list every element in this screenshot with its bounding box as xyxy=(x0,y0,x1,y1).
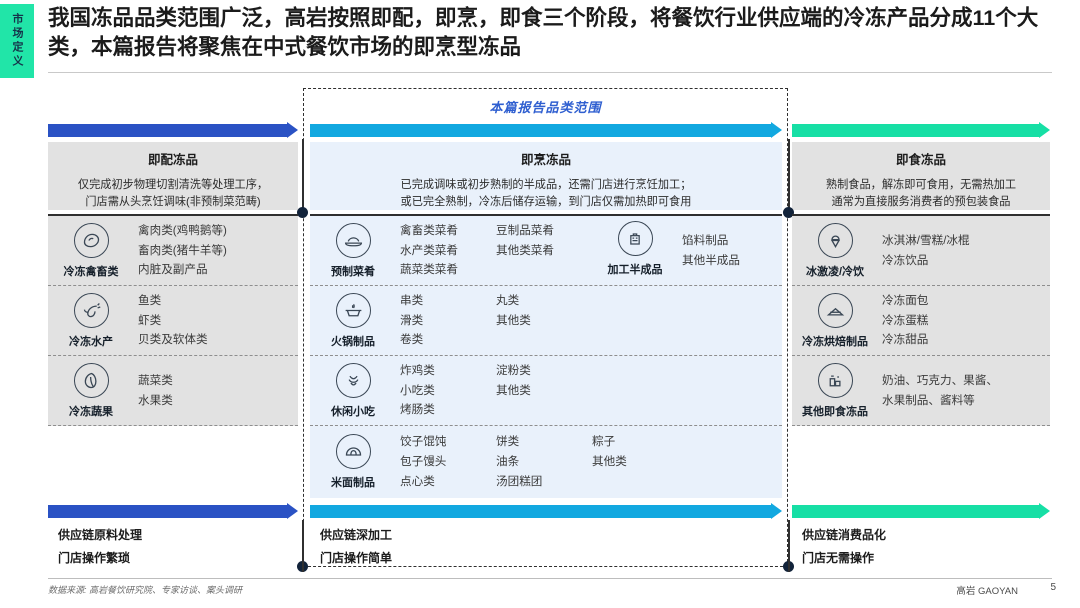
list-item: 饺子馄饨 xyxy=(400,432,496,452)
category-icon-block: 火锅制品 xyxy=(310,293,396,349)
dumpling-icon xyxy=(336,434,371,469)
list-item: 其他类 xyxy=(496,381,592,401)
category-name: 休闲小吃 xyxy=(331,403,375,419)
vegetable-icon xyxy=(74,363,109,398)
category-row[interactable]: 冰激凌/冷饮 冰淇淋/雪糕/冰棍 冷冻饮品 xyxy=(792,216,1050,286)
category-icon-block: 其他即食冻品 xyxy=(792,363,878,419)
category-name: 冷冻烘焙制品 xyxy=(802,333,868,349)
category-icon-block: 冷冻蔬果 xyxy=(48,363,134,419)
arrow-bottom-ready-to-cook xyxy=(48,505,298,518)
item-column: 淀粉类 其他类 xyxy=(496,361,592,421)
slide-root: 市场定义 我国冻品品类范围广泛，高岩按照即配，即烹，即食三个阶段，将餐饮行业供应… xyxy=(0,0,1080,608)
report-scope-label: 本篇报告品类范围 xyxy=(303,97,788,116)
item-column: 冷冻面包 冷冻蛋糕 冷冻甜品 xyxy=(882,291,1000,351)
list-item: 饼类 xyxy=(496,432,592,452)
category-row[interactable]: 冷冻禽畜类 禽肉类(鸡鸭鹅等) 畜肉类(猪牛羊等) 内脏及副产品 xyxy=(48,216,298,286)
category-icon-block: 冷冻水产 xyxy=(48,293,134,349)
category-row[interactable]: 米面制品 饺子馄饨 包子馒头 点心类 饼类 油条 汤团糕团 粽子 其他类 xyxy=(310,426,782,498)
stage-header-ready-to-heat: 即烹冻品 已完成调味或初步熟制的半成品，还需门店进行烹饪加工； 或已完全熟制，冷… xyxy=(310,142,782,210)
category-items: 禽畜类菜肴 水产类菜肴 蔬菜类菜肴 豆制品菜肴 其他类菜肴 加工半成品 xyxy=(396,221,782,281)
stage-title: 即配冻品 xyxy=(48,149,298,168)
category-items: 禽肉类(鸡鸭鹅等) 畜肉类(猪牛羊等) 内脏及副产品 xyxy=(134,221,298,281)
list-item: 丸类 xyxy=(496,291,592,311)
category-items: 冷冻面包 冷冻蛋糕 冷冻甜品 xyxy=(878,291,1050,351)
stage-header-ready-to-cook: 即配冻品 仅完成初步物理切割清洗等处理工序， 门店需从头烹饪调味(非预制菜范畴) xyxy=(48,142,298,210)
snack-icon xyxy=(336,363,371,398)
category-icon-block: 预制菜肴 xyxy=(310,223,396,279)
category-icon-block: 冷冻禽畜类 xyxy=(48,223,134,279)
section-tag: 市场定义 xyxy=(0,4,34,78)
category-name: 冷冻蔬果 xyxy=(69,403,113,419)
arrow-head xyxy=(771,503,782,519)
category-icon-block: 冰激凌/冷饮 xyxy=(792,223,878,279)
stage-arrow-row xyxy=(0,124,1080,138)
category-row[interactable]: 休闲小吃 炸鸡类 小吃类 烤肠类 淀粉类 其他类 xyxy=(310,356,782,426)
category-items: 蔬菜类 水果类 xyxy=(134,371,298,411)
list-item: 烤肠类 xyxy=(400,400,496,420)
list-item: 内脏及副产品 xyxy=(138,260,256,280)
list-item: 油条 xyxy=(496,452,592,472)
column-divider-right xyxy=(788,139,790,213)
item-column: 饼类 油条 汤团糕团 xyxy=(496,432,592,492)
footer-brand: 高岩 GAOYAN xyxy=(956,583,1018,597)
column-divider-right-bottom xyxy=(788,520,790,572)
summary-line: 门店操作繁琐 xyxy=(58,547,298,570)
meat-icon xyxy=(74,223,109,258)
list-item: 鱼类 xyxy=(138,291,256,311)
arrow-bar xyxy=(48,505,288,518)
item-column: 冰淇淋/雪糕/冰棍 冷冻饮品 xyxy=(882,231,1000,271)
stage-title: 即食冻品 xyxy=(792,149,1050,168)
category-name: 火锅制品 xyxy=(331,333,375,349)
stage-desc: 熟制食品，解冻即可食用，无需热加工 通常为直接服务消费者的预包装食品 xyxy=(792,177,1050,211)
summary-line: 门店操作简单 xyxy=(320,547,782,570)
category-items: 串类 滑类 卷类 丸类 其他类 xyxy=(396,291,782,351)
factory-icon xyxy=(618,221,653,256)
cake-icon xyxy=(818,293,853,328)
list-item: 畜肉类(猪牛羊等) xyxy=(138,241,256,261)
category-row[interactable]: 其他即食冻品 奶油、巧克力、果酱、水果制品、酱料等 xyxy=(792,356,1050,426)
subcategory-items: 馅料制品 其他半成品 xyxy=(678,231,778,271)
item-column: 豆制品菜肴 其他类菜肴 xyxy=(496,221,592,281)
column-divider-left xyxy=(302,139,304,213)
item-column: 禽畜类菜肴 水产类菜肴 蔬菜类菜肴 xyxy=(400,221,496,281)
list-item: 粽子 xyxy=(592,432,688,452)
arrow-head xyxy=(1039,503,1050,519)
item-column: 蔬菜类 水果类 xyxy=(138,371,256,411)
list-item: 冰淇淋/雪糕/冰棍 xyxy=(882,231,1000,251)
category-row[interactable]: 预制菜肴 禽畜类菜肴 水产类菜肴 蔬菜类菜肴 豆制品菜肴 其他类菜肴 xyxy=(310,216,782,286)
list-item: 小吃类 xyxy=(400,381,496,401)
column-divider-left-bottom xyxy=(302,520,304,572)
list-item: 贝类及软体类 xyxy=(138,330,256,350)
list-item: 蔬菜类 xyxy=(138,371,256,391)
category-name: 其他即食冻品 xyxy=(802,403,868,419)
item-column: 串类 滑类 卷类 xyxy=(400,291,496,351)
category-row[interactable]: 火锅制品 串类 滑类 卷类 丸类 其他类 xyxy=(310,286,782,356)
arrow-bar xyxy=(310,505,772,518)
category-items: 炸鸡类 小吃类 烤肠类 淀粉类 其他类 xyxy=(396,361,782,421)
category-row[interactable]: 冷冻蔬果 蔬菜类 水果类 xyxy=(48,356,298,426)
arrow-head xyxy=(771,122,782,138)
list-item: 其他类 xyxy=(496,311,592,331)
arrow-bar xyxy=(48,124,288,137)
summary-ready-to-cook: 供应链原料处理 门店操作繁琐 xyxy=(48,524,298,568)
summary-line: 门店无需操作 xyxy=(802,547,1050,570)
item-column: 饺子馄饨 包子馒头 点心类 xyxy=(400,432,496,492)
shrimp-icon xyxy=(74,293,109,328)
item-column: 粽子 其他类 xyxy=(592,432,688,492)
list-item: 其他类 xyxy=(592,452,688,472)
arrow-ready-to-eat xyxy=(792,124,1050,137)
list-item: 禽肉类(鸡鸭鹅等) xyxy=(138,221,256,241)
category-icon-block: 冷冻烘焙制品 xyxy=(792,293,878,349)
list-item: 水果类 xyxy=(138,391,256,411)
list-item: 滑类 xyxy=(400,311,496,331)
item-column: 丸类 其他类 xyxy=(496,291,592,351)
arrow-bottom-ready-to-eat xyxy=(792,505,1050,518)
connector-dot-left xyxy=(297,207,308,218)
category-name: 冷冻禽畜类 xyxy=(64,263,119,279)
category-icon-block: 休闲小吃 xyxy=(310,363,396,419)
category-row[interactable]: 冷冻烘焙制品 冷冻面包 冷冻蛋糕 冷冻甜品 xyxy=(792,286,1050,356)
list-item: 豆制品菜肴 xyxy=(496,221,592,241)
list-item: 炸鸡类 xyxy=(400,361,496,381)
subcategory-icon-block: 加工半成品 xyxy=(592,221,678,280)
list-item: 汤团糕团 xyxy=(496,472,592,492)
icecream-icon xyxy=(818,223,853,258)
list-item: 奶油、巧克力、果酱、水果制品、酱料等 xyxy=(882,371,1002,411)
item-column: 馅料制品 其他半成品 xyxy=(682,231,778,271)
list-item: 冷冻饮品 xyxy=(882,251,1000,271)
ingredients-icon xyxy=(818,363,853,398)
item-column: 炸鸡类 小吃类 烤肠类 xyxy=(400,361,496,421)
list-item: 其他类菜肴 xyxy=(496,241,592,261)
list-item: 冷冻甜品 xyxy=(882,330,1000,350)
list-item: 禽畜类菜肴 xyxy=(400,221,496,241)
item-column: 奶油、巧克力、果酱、水果制品、酱料等 xyxy=(882,371,1002,411)
hotpot-icon xyxy=(336,293,371,328)
list-item: 虾类 xyxy=(138,311,256,331)
list-item: 水产类菜肴 xyxy=(400,241,496,261)
arrow-bar xyxy=(310,124,772,137)
page-title: 我国冻品品类范围广泛，高岩按照即配，即烹，即食三个阶段，将餐饮行业供应端的冷冻产… xyxy=(48,4,1058,62)
list-item: 冷冻面包 xyxy=(882,291,1000,311)
footer-source: 数据来源: 高岩餐饮研究院、专家访谈、案头调研 xyxy=(48,583,242,596)
summary-line: 供应链消费品化 xyxy=(802,524,1050,547)
category-name: 米面制品 xyxy=(331,474,375,490)
arrow-head xyxy=(287,503,298,519)
category-items: 饺子馄饨 包子馒头 点心类 饼类 油条 汤团糕团 粽子 其他类 xyxy=(396,432,782,492)
list-item: 蔬菜类菜肴 xyxy=(400,260,496,280)
stage-title: 即烹冻品 xyxy=(310,149,782,168)
list-item: 冷冻蛋糕 xyxy=(882,311,1000,331)
footer-divider xyxy=(48,578,1052,579)
arrow-head xyxy=(287,122,298,138)
summary-line: 供应链原料处理 xyxy=(58,524,298,547)
subcategory-block[interactable]: 加工半成品 馅料制品 其他半成品 xyxy=(592,221,778,281)
title-divider xyxy=(48,72,1052,73)
list-item: 其他半成品 xyxy=(682,251,778,271)
stage-header-ready-to-eat: 即食冻品 熟制食品，解冻即可食用，无需热加工 通常为直接服务消费者的预包装食品 xyxy=(792,142,1050,210)
list-item: 卷类 xyxy=(400,330,496,350)
list-item: 馅料制品 xyxy=(682,231,778,251)
stage-desc: 已完成调味或初步熟制的半成品，还需门店进行烹饪加工； 或已完全熟制，冷冻后储存运… xyxy=(310,177,782,211)
list-item: 包子馒头 xyxy=(400,452,496,472)
arrow-ready-to-cook xyxy=(48,124,298,137)
category-icon-block: 米面制品 xyxy=(310,434,396,490)
subcategory-name: 加工半成品 xyxy=(608,261,663,280)
summary-ready-to-eat: 供应链消费品化 门店无需操作 xyxy=(792,524,1050,568)
category-name: 冰激凌/冷饮 xyxy=(806,263,864,279)
summary-ready-to-heat: 供应链深加工 门店操作简单 xyxy=(310,524,782,568)
item-column: 禽肉类(鸡鸭鹅等) 畜肉类(猪牛羊等) 内脏及副产品 xyxy=(138,221,256,281)
category-name: 冷冻水产 xyxy=(69,333,113,349)
summary-line: 供应链深加工 xyxy=(320,524,782,547)
stage-desc: 仅完成初步物理切割清洗等处理工序， 门店需从头烹饪调味(非预制菜范畴) xyxy=(48,177,298,211)
arrow-head xyxy=(1039,122,1050,138)
category-items: 奶油、巧克力、果酱、水果制品、酱料等 xyxy=(878,371,1050,411)
arrow-bottom-ready-to-heat xyxy=(310,505,782,518)
arrow-bar xyxy=(792,124,1040,137)
category-name: 预制菜肴 xyxy=(331,263,375,279)
arrow-ready-to-heat xyxy=(310,124,782,137)
category-items: 鱼类 虾类 贝类及软体类 xyxy=(134,291,298,351)
list-item: 点心类 xyxy=(400,472,496,492)
category-row[interactable]: 冷冻水产 鱼类 虾类 贝类及软体类 xyxy=(48,286,298,356)
item-column: 鱼类 虾类 贝类及软体类 xyxy=(138,291,256,351)
list-item: 淀粉类 xyxy=(496,361,592,381)
section-tag-label: 市场定义 xyxy=(11,13,23,69)
arrow-bar xyxy=(792,505,1040,518)
stage-arrow-row-bottom xyxy=(0,505,1080,519)
footer-page-number: 5 xyxy=(1050,582,1056,593)
dish-icon xyxy=(336,223,371,258)
category-items: 冰淇淋/雪糕/冰棍 冷冻饮品 xyxy=(878,231,1050,271)
list-item: 串类 xyxy=(400,291,496,311)
